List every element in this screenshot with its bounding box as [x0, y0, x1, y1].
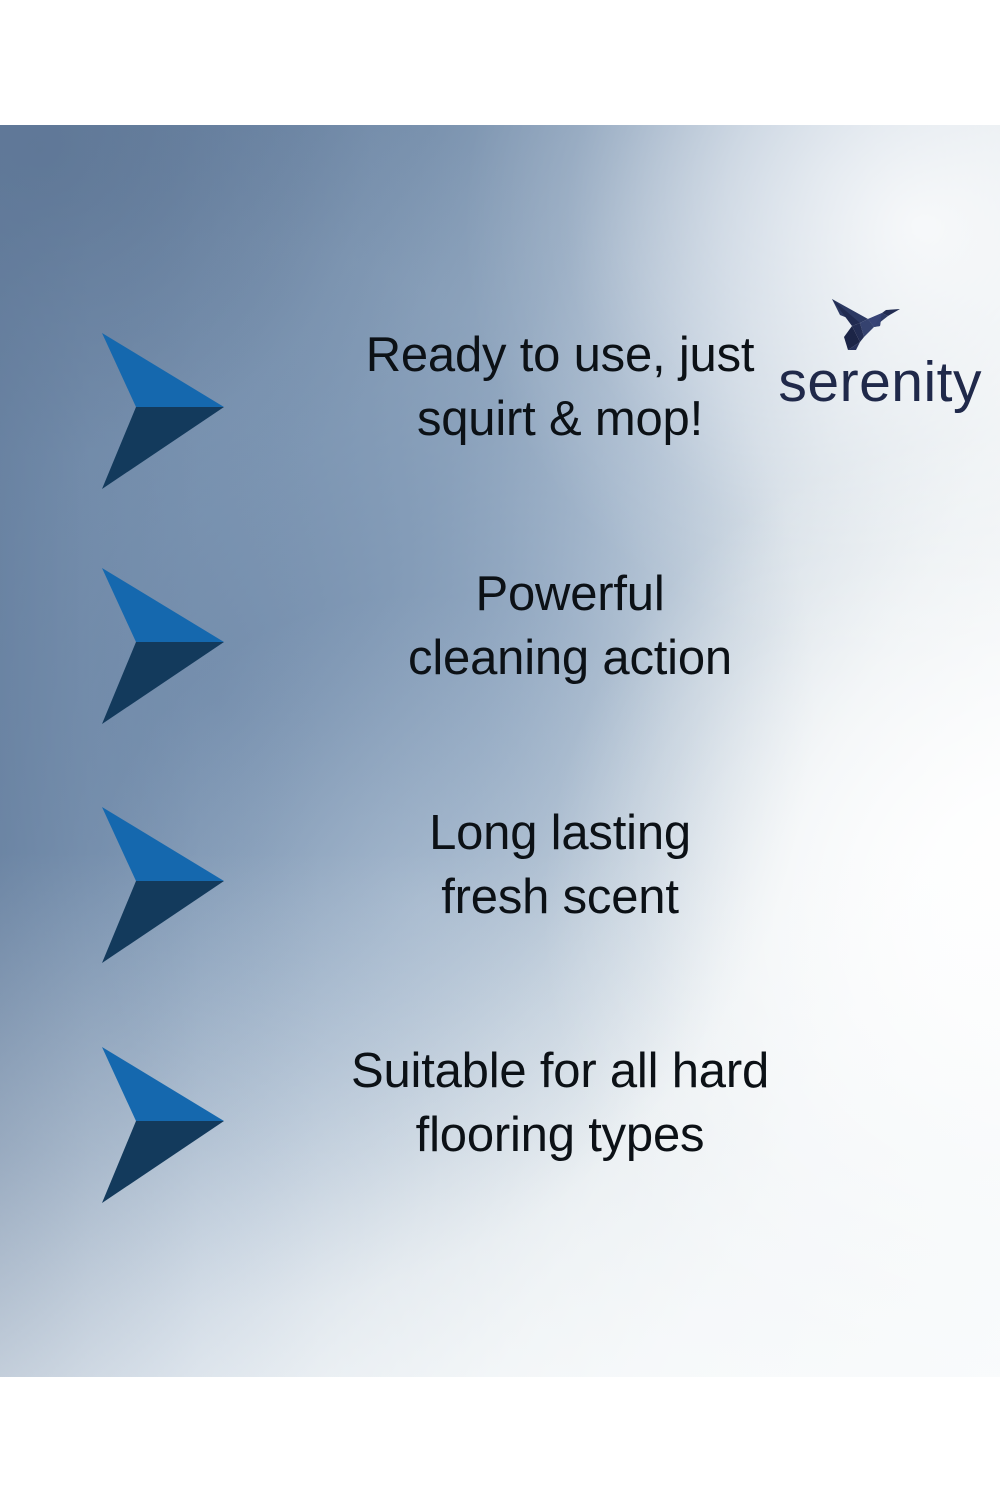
- arrow-right-icon: [98, 564, 228, 729]
- feature-label: Powerful cleaning action: [250, 562, 890, 690]
- feature-row: Long lasting fresh scent: [0, 785, 1000, 985]
- feature-label: Long lasting fresh scent: [240, 801, 880, 929]
- arrow-right-icon: [98, 1043, 228, 1208]
- feature-row: Suitable for all hard flooring types: [0, 1025, 1000, 1225]
- feature-row: Ready to use, just squirt & mop!: [0, 311, 1000, 511]
- feature-label: Suitable for all hard flooring types: [230, 1039, 890, 1167]
- artwork-panel: serenity Ready to use, just squirt & mop…: [0, 125, 1000, 1377]
- feature-row: Powerful cleaning action: [0, 546, 1000, 746]
- arrow-right-icon: [98, 803, 228, 968]
- product-feature-graphic: serenity Ready to use, just squirt & mop…: [0, 0, 1000, 1500]
- feature-label: Ready to use, just squirt & mop!: [240, 323, 880, 451]
- arrow-right-icon: [98, 329, 228, 494]
